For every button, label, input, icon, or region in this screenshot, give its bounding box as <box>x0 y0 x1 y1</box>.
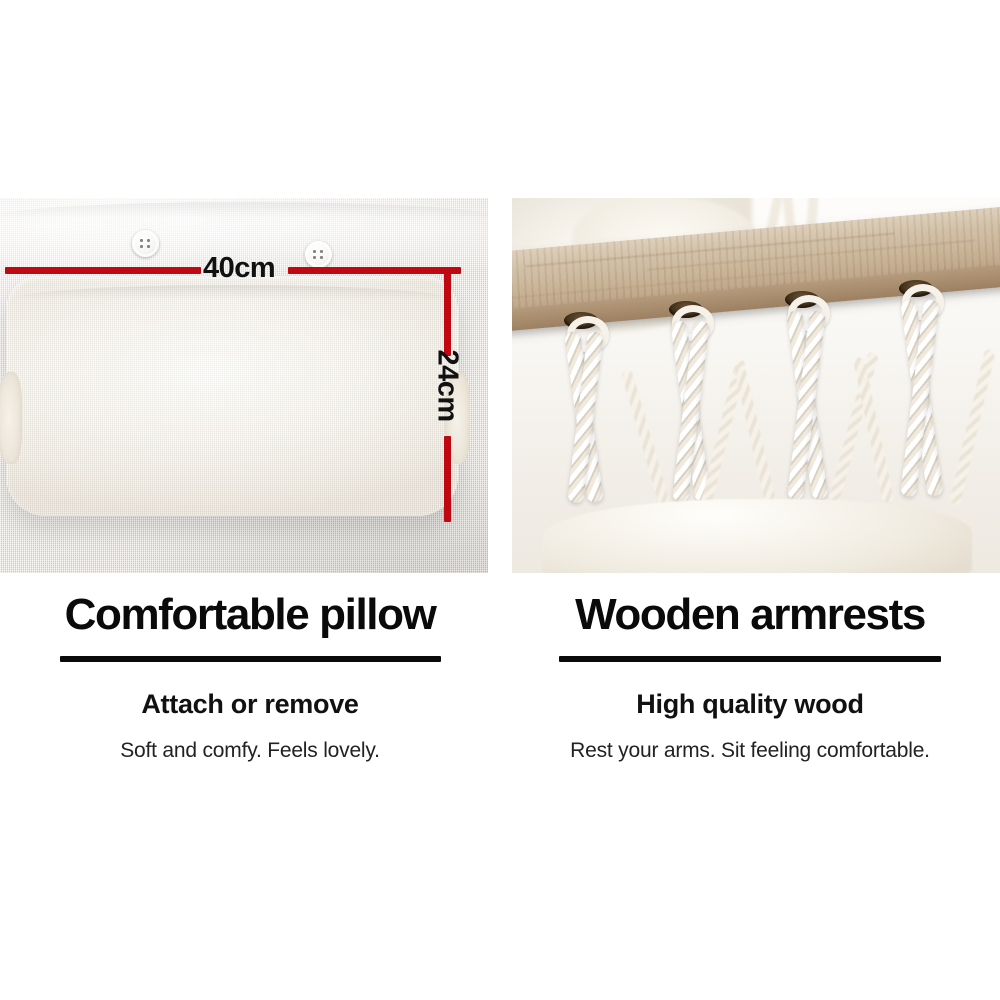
pillow-button-right <box>305 241 332 268</box>
height-dimension-label: 24cm <box>433 350 462 420</box>
width-dimension-label: 40cm <box>203 254 275 283</box>
pillow-headline: Comfortable pillow <box>0 592 500 638</box>
pillow-caption: Soft and comfy. Feels lovely. <box>0 739 500 763</box>
product-feature-sheet: 40cm 24cm Comfortable pillow Attach or r… <box>0 0 1000 1000</box>
height-dimension-line-bottom <box>444 436 451 522</box>
armrest-divider <box>559 656 941 662</box>
panel-row: 40cm 24cm Comfortable pillow Attach or r… <box>0 0 1000 1000</box>
pillow-photo: 40cm 24cm <box>0 198 488 573</box>
pillow-divider <box>60 656 441 662</box>
feature-panel-pillow: 40cm 24cm Comfortable pillow Attach or r… <box>0 0 500 1000</box>
seat-cushion <box>542 499 972 573</box>
pillow-button-left <box>132 230 159 257</box>
height-dimension-line-top <box>444 268 451 356</box>
pillow-corner-left <box>0 372 22 464</box>
seam-line <box>0 202 488 218</box>
pillow-text-block: Comfortable pillow Attach or remove Soft… <box>0 592 500 763</box>
armrest-subhead: High quality wood <box>500 690 1000 720</box>
width-dimension-line-right <box>288 267 461 274</box>
armrest-caption: Rest your arms. Sit feeling comfortable. <box>500 739 1000 763</box>
width-dimension-line-left <box>5 267 201 274</box>
pillow-subhead: Attach or remove <box>0 690 500 720</box>
armrest-text-block: Wooden armrests High quality wood Rest y… <box>500 592 1000 763</box>
armrest-headline: Wooden armrests <box>500 592 1000 638</box>
pillow-body <box>6 276 458 516</box>
armrest-photo <box>512 198 1000 573</box>
feature-panel-armrests: Wooden armrests High quality wood Rest y… <box>500 0 1000 1000</box>
